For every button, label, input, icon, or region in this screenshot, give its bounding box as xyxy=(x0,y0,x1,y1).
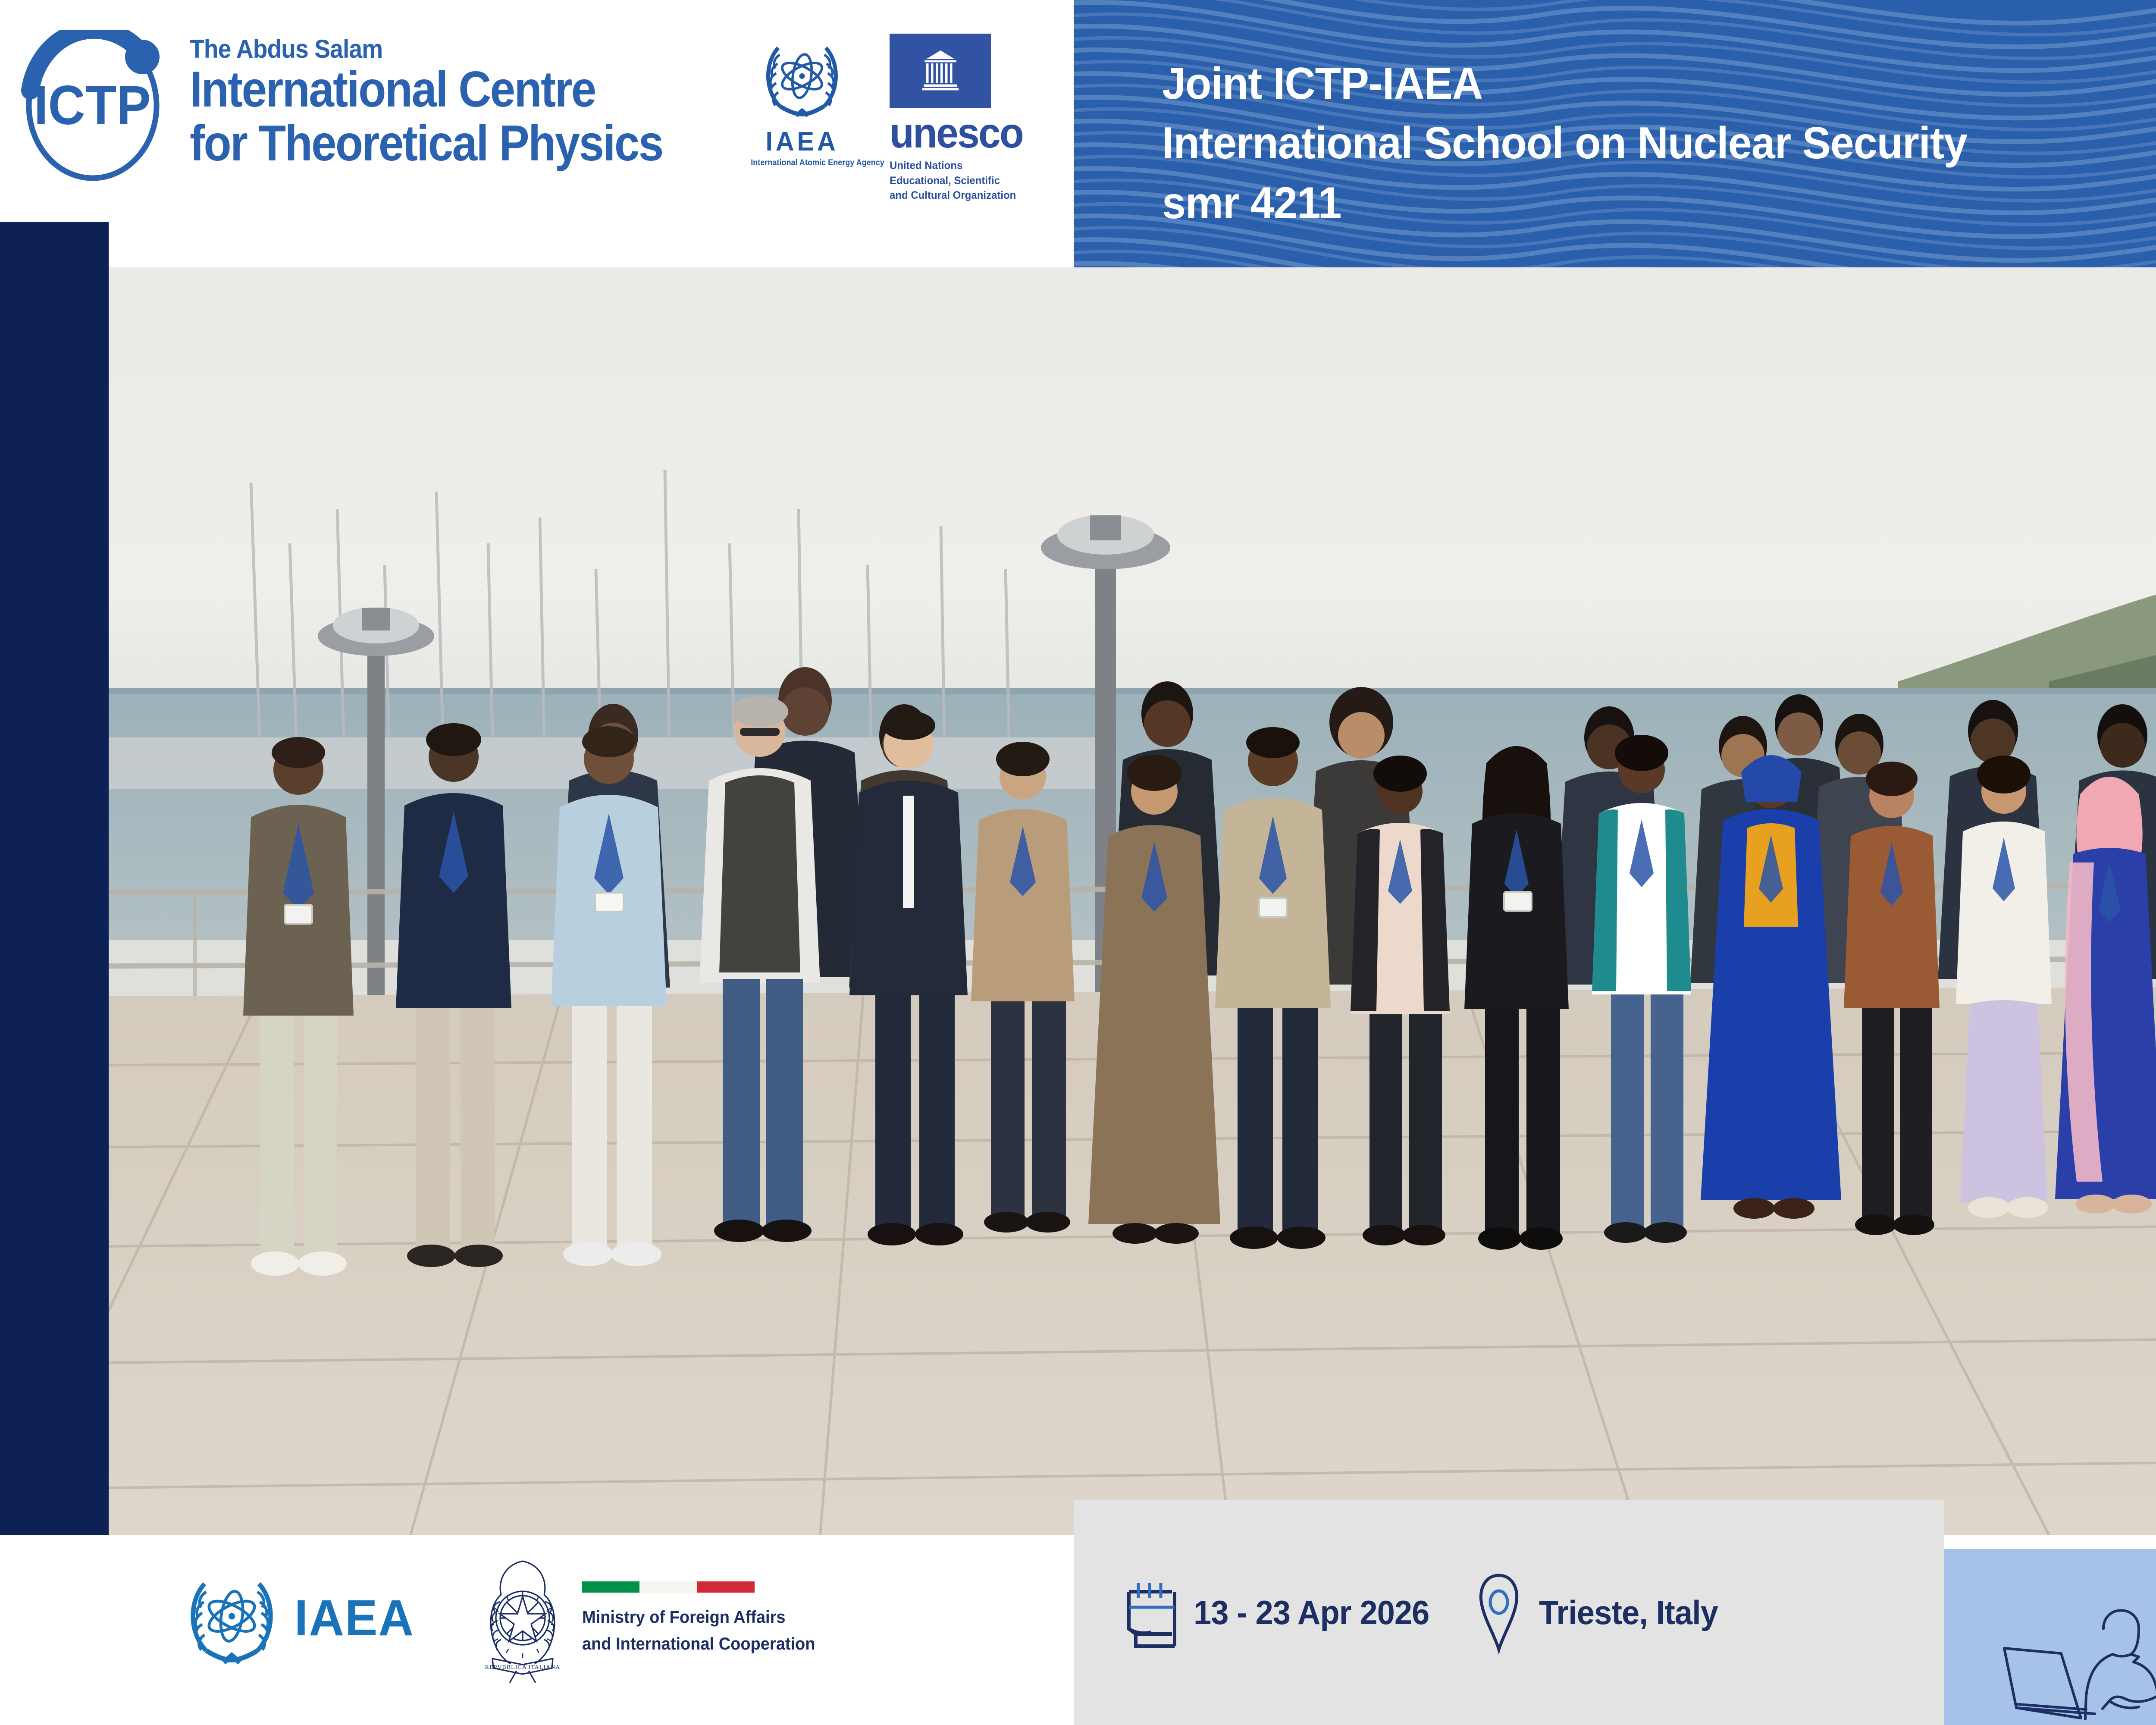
footer-sponsor-logos: IAEA xyxy=(181,1553,827,1683)
calendar-icon xyxy=(1121,1574,1177,1651)
italy-ministry-line1: Ministry of Foreign Affairs xyxy=(582,1604,815,1631)
event-dates-item: 13 - 23 Apr 2026 xyxy=(1121,1574,1442,1651)
iaea-atom-laurel-icon xyxy=(748,34,856,122)
left-accent-stripe xyxy=(0,222,109,1725)
title-line-3: smr 4211 xyxy=(1162,173,1967,233)
italy-flag-icon xyxy=(582,1581,755,1593)
ictp-logo: ICTP The Abdus Salam International Centr… xyxy=(13,26,711,185)
italy-ministry-line2: and International Cooperation xyxy=(582,1631,815,1657)
unesco-sub-line3: and Cultural Organization xyxy=(890,188,1026,203)
event-location-item: Trieste, Italy xyxy=(1475,1569,1727,1656)
unesco-temple-emblem xyxy=(890,34,991,108)
svg-text:REPVBBLICA ITALIANA: REPVBBLICA ITALIANA xyxy=(485,1664,561,1671)
iaea-footer-acronym: IAEA xyxy=(295,1593,414,1643)
iaea-logo: IAEA International Atomic Energy Agency xyxy=(748,34,856,168)
group-photo xyxy=(109,267,2156,1535)
event-title: Joint ICTP-IAEA International School on … xyxy=(1162,54,2009,233)
people-with-laptops-illustration xyxy=(1944,1549,2156,1725)
title-line-2: International School on Nuclear Security xyxy=(1162,113,1967,173)
event-location: Trieste, Italy xyxy=(1539,1593,1718,1632)
iaea-full-name: International Atomic Energy Agency xyxy=(751,159,853,168)
ictp-name-line2: for Theoretical Physics xyxy=(190,116,663,170)
italy-ministry-logo: REPVBBLICA ITALIANA Ministry of Foreign … xyxy=(475,1553,827,1683)
unesco-sub-line2: Educational, Scientific xyxy=(890,173,1026,188)
unesco-wordmark: unesco xyxy=(890,113,1025,153)
ictp-wordmark: The Abdus Salam International Centre for… xyxy=(190,36,715,170)
event-info-bar: 13 - 23 Apr 2026 Trieste, Italy xyxy=(1074,1500,1944,1725)
title-line-1: Joint ICTP-IAEA xyxy=(1162,54,1967,113)
svg-text:ICTP: ICTP xyxy=(34,75,151,136)
ictp-tagline: The Abdus Salam xyxy=(190,36,673,62)
unesco-logo: unesco United Nations Educational, Scien… xyxy=(890,34,1032,203)
unesco-sub-line1: United Nations xyxy=(890,158,1026,173)
iaea-acronym: IAEA xyxy=(750,129,854,155)
ictp-orbit-icon: ICTP xyxy=(13,30,172,181)
ictp-name-line1: International Centre xyxy=(190,62,663,116)
iaea-atom-laurel-icon xyxy=(181,1568,282,1669)
event-dates: 13 - 23 Apr 2026 xyxy=(1194,1593,1429,1632)
italian-republic-emblem-icon: REPVBBLICA ITALIANA xyxy=(475,1553,570,1683)
header-bar: ICTP The Abdus Salam International Centr… xyxy=(0,0,2156,267)
partner-logos: IAEA International Atomic Energy Agency xyxy=(748,34,1032,203)
map-pin-icon xyxy=(1475,1569,1523,1656)
iaea-footer-logo: IAEA xyxy=(181,1568,417,1669)
